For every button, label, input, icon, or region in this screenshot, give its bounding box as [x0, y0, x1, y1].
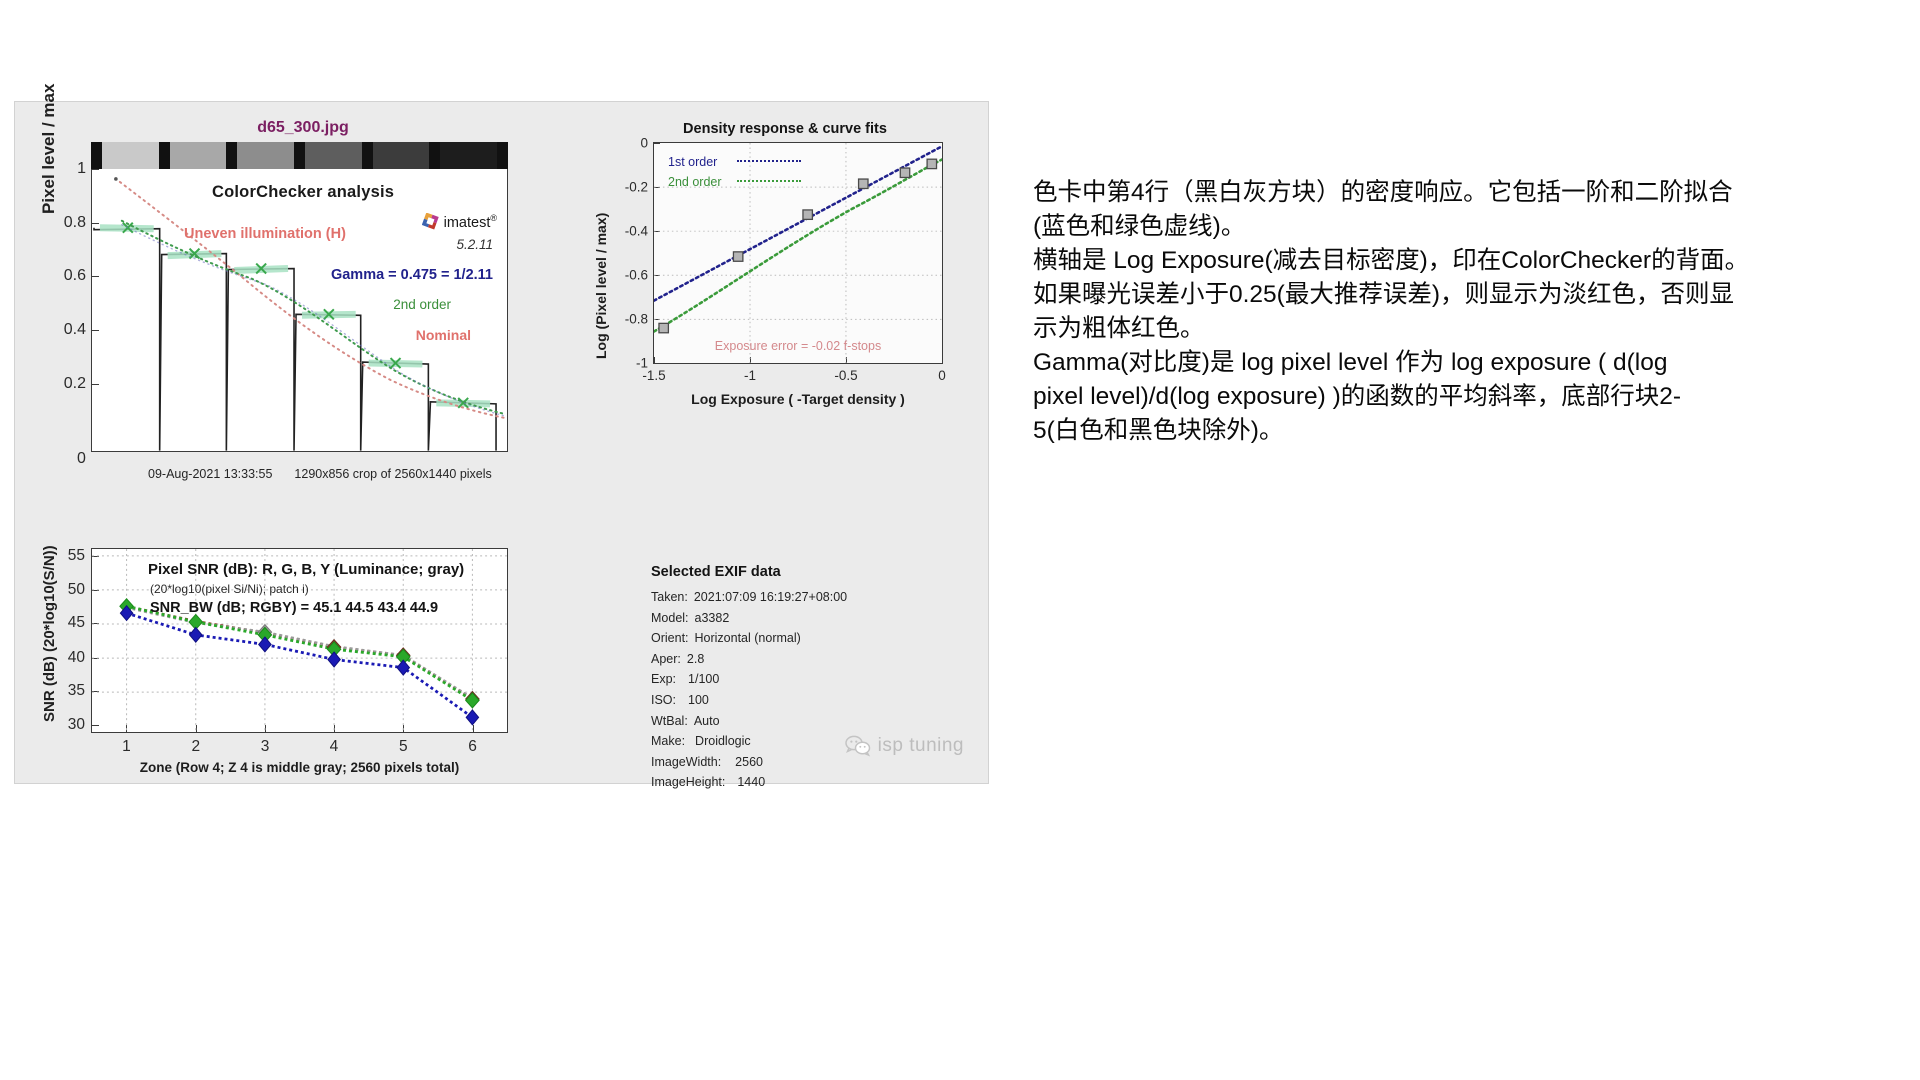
exif-value: 2021:07:09 16:19:27+08:00 [694, 587, 847, 608]
annotation-line: 5(白色和黑色块除外)。 [1033, 414, 1883, 448]
colorchecker-y-axis-label: Pixel level / max [39, 84, 59, 214]
exif-key: ImageWidth: [651, 752, 721, 773]
registered-mark: ® [490, 213, 497, 223]
nominal-legend-label: Nominal [416, 327, 471, 343]
patch-separator [429, 142, 440, 169]
gray-patch [305, 142, 362, 169]
selected-exif-data-block: Selected EXIF data Taken:2021:07:09 16:1… [651, 564, 951, 793]
chinese-annotation-text: 色卡中第4行（黑白灰方块）的密度响应。它包括一阶和二阶拟合 (蓝色和绿色虚线)。… [1033, 176, 1883, 448]
y-tick-label: -0.2 [625, 180, 648, 195]
y-tick-label: 1 [77, 160, 86, 178]
exif-key: Make: [651, 731, 685, 752]
annotation-line: 示为粗体红色。 [1033, 312, 1883, 346]
patch-separator [226, 142, 237, 169]
isp-tuning-watermark: isp tuning [845, 735, 964, 757]
exif-value: Auto [694, 711, 720, 732]
snr-x-axis-label: Zone (Row 4; Z 4 is middle gray; 2560 pi… [91, 760, 508, 775]
exif-row: Orient:Horizontal (normal) [651, 628, 951, 649]
snr-plot-area: 55 50 45 40 35 30 1 2 3 4 5 6 [91, 548, 508, 733]
exif-row: Model:a3382 [651, 608, 951, 629]
y-tick-label: 0.6 [64, 267, 86, 285]
exif-value: 2560 [735, 752, 763, 773]
exif-key: Orient: [651, 628, 689, 649]
y-tick-label: -0.4 [625, 224, 648, 239]
exif-row: ImageHeight:1440 [651, 772, 951, 793]
patch-separator [159, 142, 170, 169]
wechat-icon [845, 735, 871, 757]
colorchecker-plot-area: 1 0.8 0.6 0.4 0.2 [91, 169, 508, 452]
exif-row: WtBal:Auto [651, 711, 951, 732]
x-tick-label: 5 [399, 738, 408, 756]
exif-key: Aper: [651, 649, 681, 670]
patch-separator [362, 142, 373, 169]
y-tick-label: 55 [68, 547, 85, 565]
y-tick-label-zero: 0 [77, 450, 86, 468]
exif-value: 1440 [737, 772, 765, 793]
y-tick-label: -0.8 [625, 312, 648, 327]
exif-row: Aper:2.8 [651, 649, 951, 670]
exif-value: 100 [688, 690, 709, 711]
snr-bw-values: SNR_BW (dB; RGBY) = 45.1 44.5 43.4 44.9 [150, 600, 438, 616]
snr-y-axis-label: SNR (dB) (20*log10(S/N)) [41, 545, 58, 722]
annotation-line: 如果曝光误差小于0.25(最大推荐误差)，则显示为淡红色，否则显 [1033, 278, 1883, 312]
density-response-chart: Density response & curve fits Log (Pixel… [593, 119, 973, 439]
exif-key: ISO: [651, 690, 676, 711]
capture-info-footnote: 09-Aug-2021 13:33:551290x856 crop of 256… [148, 467, 492, 481]
uneven-illumination-label: Uneven illumination (H) [184, 226, 346, 242]
density-response-x-axis-label: Log Exposure ( -Target density ) [653, 391, 943, 407]
x-tick-label: -0.5 [834, 368, 857, 383]
annotation-line: 横轴是 Log Exposure(减去目标密度)，印在ColorChecker的… [1033, 244, 1883, 278]
y-tick-label: 40 [68, 649, 85, 667]
y-tick-label: 50 [68, 581, 85, 599]
x-tick-label: 4 [330, 738, 339, 756]
density-legend-2nd-order: 2nd order [668, 175, 801, 189]
imatest-figure-panel: d65_300.jpg Pixel level / max 1 0.8 0.6 [14, 101, 989, 784]
snr-chart-subtitle: (20*log10(pixel Si/Ni); patch i) [150, 582, 309, 596]
second-order-legend-label: 2nd order [393, 297, 451, 312]
legend-swatch-2nd-icon [737, 180, 801, 182]
imatest-version-label: 5.2.11 [456, 237, 493, 252]
x-tick-label: 2 [191, 738, 200, 756]
crop-info: 1290x856 crop of 2560x1440 pixels [294, 467, 491, 481]
annotation-line: Gamma(对比度)是 log pixel level 作为 log expos… [1033, 346, 1883, 380]
y-tick-label: 35 [68, 682, 85, 700]
exif-value: 1/100 [688, 669, 719, 690]
colorchecker-chart-title: ColorChecker analysis [212, 183, 394, 202]
annotation-line: (蓝色和绿色虚线)。 [1033, 210, 1883, 244]
gray-patch [237, 142, 294, 169]
x-tick-label: -1.5 [642, 368, 665, 383]
exif-value: a3382 [695, 608, 730, 629]
exif-key: WtBal: [651, 711, 688, 732]
density-response-plot-area: 0 -0.2 -0.4 -0.6 -0.8 -1 -1.5 -1 -0.5 0 [653, 142, 943, 364]
x-tick-label: 3 [261, 738, 270, 756]
image-filename-title: d65_300.jpg [43, 119, 563, 137]
exif-row: Exp:1/100 [651, 669, 951, 690]
legend-swatch-1st-icon [737, 160, 801, 162]
exif-row: Taken:2021:07:09 16:19:27+08:00 [651, 587, 951, 608]
gray-patch [170, 142, 227, 169]
density-response-y-axis-label: Log (Pixel level / max) [593, 213, 609, 359]
imatest-brand-badge: imatest® [422, 213, 497, 231]
density-response-title: Density response & curve fits [635, 121, 935, 137]
imatest-brand-text: imatest® [444, 213, 497, 231]
x-tick-label: -1 [744, 368, 756, 383]
exif-value: Droidlogic [695, 731, 751, 752]
gray-patch [102, 142, 159, 169]
legend-label-2nd: 2nd order [668, 175, 722, 189]
imatest-logo-icon [422, 213, 439, 230]
y-tick-label: 0 [640, 136, 648, 151]
patch-separator [497, 142, 508, 169]
legend-label-1st: 1st order [668, 155, 717, 169]
exif-row: ISO:100 [651, 690, 951, 711]
exif-section-title: Selected EXIF data [651, 564, 951, 580]
x-tick-label: 6 [468, 738, 477, 756]
x-tick-label: 0 [938, 368, 946, 383]
capture-timestamp: 09-Aug-2021 13:33:55 [148, 467, 272, 481]
exif-key: ImageHeight: [651, 772, 725, 793]
y-tick-label: 45 [68, 614, 85, 632]
exif-key: Taken: [651, 587, 688, 608]
y-tick-label: 0.8 [64, 214, 86, 232]
y-tick-label: 0.4 [64, 321, 86, 339]
watermark-text: isp tuning [878, 735, 964, 757]
exif-value: 2.8 [687, 649, 704, 670]
pixel-snr-chart: SNR (dB) (20*log10(S/N)) 55 50 45 40 35 … [43, 542, 563, 772]
y-tick-label: 30 [68, 716, 85, 734]
patch-separator [294, 142, 305, 169]
exposure-error-annotation: Exposure error = -0.02 f-stops [654, 339, 942, 353]
exif-key: Exp: [651, 669, 676, 690]
x-tick-label: 1 [122, 738, 131, 756]
gamma-value-label: Gamma = 0.475 = 1/2.11 [331, 267, 493, 283]
gray-patch [373, 142, 430, 169]
grayscale-patch-strip [91, 142, 508, 169]
snr-chart-title: Pixel SNR (dB): R, G, B, Y (Luminance; g… [148, 561, 464, 578]
patch-separator [91, 142, 102, 169]
annotation-line: pixel level)/d(log exposure) )的函数的平均斜率，底… [1033, 380, 1883, 414]
exif-key: Model: [651, 608, 689, 629]
density-legend-1st-order: 1st order [668, 155, 801, 169]
exif-value: Horizontal (normal) [695, 628, 801, 649]
y-tick-label: -0.6 [625, 268, 648, 283]
colorchecker-analysis-chart: d65_300.jpg Pixel level / max 1 0.8 0.6 [43, 119, 563, 534]
y-tick-label: 0.2 [64, 375, 86, 393]
annotation-line: 色卡中第4行（黑白灰方块）的密度响应。它包括一阶和二阶拟合 [1033, 176, 1883, 210]
gray-patch [440, 142, 497, 169]
